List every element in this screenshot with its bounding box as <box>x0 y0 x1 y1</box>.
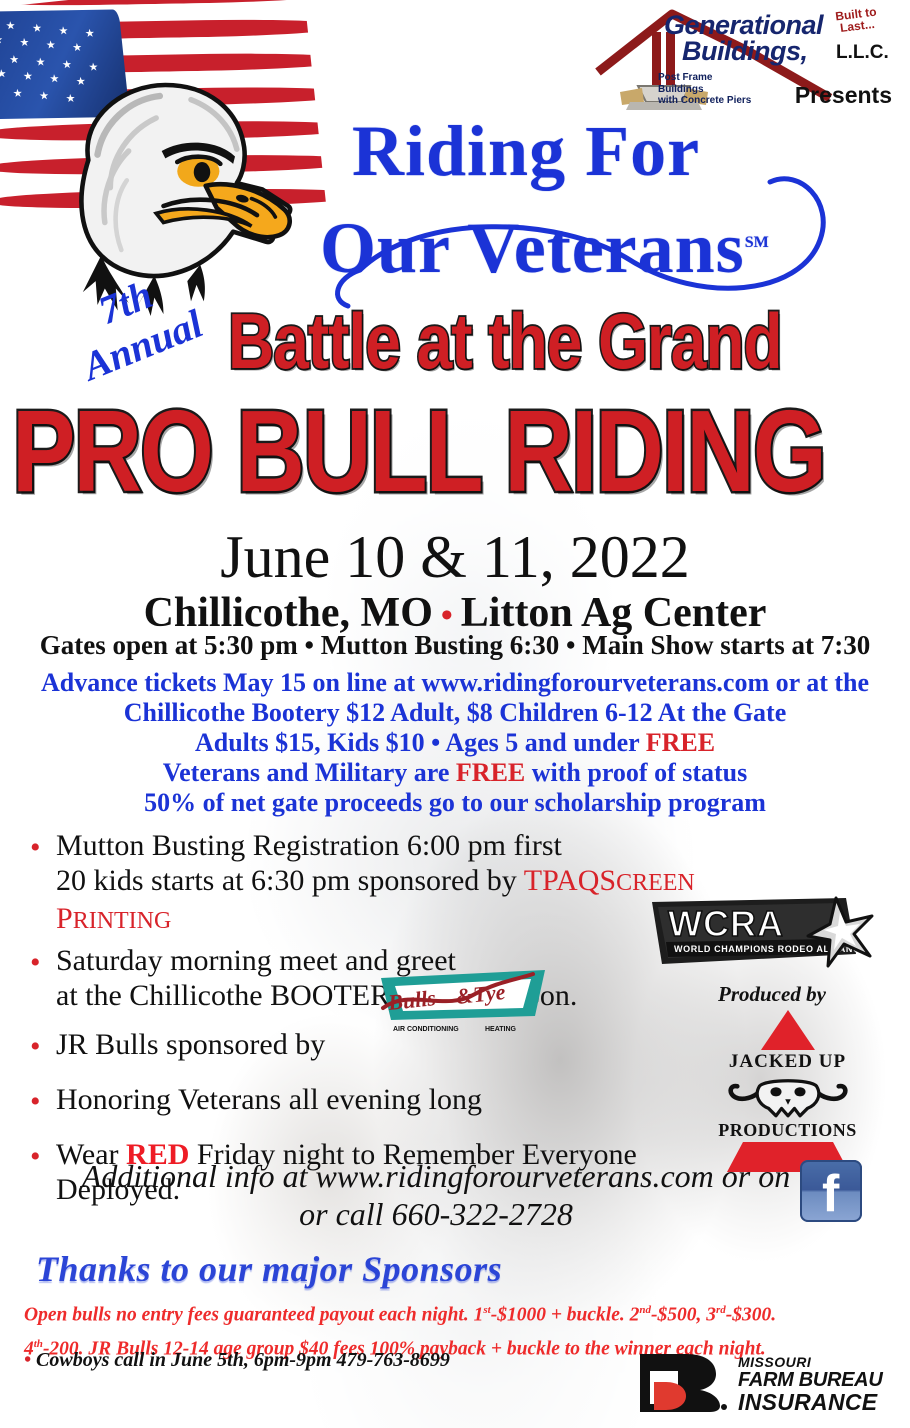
missouri-farm-bureau-insurance-logo: MISSOURI FARM BUREAU INSURANCE <box>636 1352 898 1414</box>
sponsor-subtitle: Post Frame Buildings with Concrete Piers <box>658 72 751 107</box>
bullet-dot: • <box>24 1349 31 1371</box>
bulls-eye-hvac-logo: Bulls &Tye AIR CONDITIONING HEATING <box>375 968 550 1036</box>
ticket-line-3: Adults $15, Kids $10 • Ages 5 and under … <box>0 728 910 758</box>
bullet-dot: • <box>30 830 41 865</box>
presents-label: Presents <box>795 82 892 109</box>
cowboys-callin-note: • Cowboys call in June 5th, 6pm-9pm 479-… <box>24 1349 450 1372</box>
title-line-1: Riding For <box>352 110 700 193</box>
bullet-honoring-veterans: • Honoring Veterans all evening long <box>20 1082 720 1117</box>
bullet-dot: • <box>30 1084 41 1119</box>
svg-text:AIR CONDITIONING: AIR CONDITIONING <box>393 1026 459 1033</box>
event-poster: ★★ ★★ ★ ★★ ★★ ★★ ★★ ★ ★★ ★★ ★★ ★★ <box>0 0 910 1428</box>
wcra-logo: WCRA WORLD CHAMPIONS RODEO ALLIANCE <box>650 896 880 968</box>
bull-skull-icon <box>728 1073 848 1118</box>
sponsor-llc: L.L.C. <box>836 42 889 64</box>
separator-dot: • <box>433 597 461 634</box>
svg-text:WCRA: WCRA <box>668 903 784 944</box>
jacked-up-productions-logo: JACKED UP PRODUCTIONS <box>700 1010 875 1150</box>
jacked-up-triangle <box>761 1010 815 1050</box>
event-date: June 10 & 11, 2022 <box>0 523 910 592</box>
facebook-glyph: f <box>822 1166 839 1222</box>
farm-bureau-line1: MISSOURI <box>738 1354 811 1370</box>
farm-bureau-line3: INSURANCE <box>738 1389 877 1416</box>
service-mark: SM <box>745 234 769 251</box>
ticket-line-2: Chillicothe Bootery $12 Adult, $8 Childr… <box>0 698 910 728</box>
discipline-headline: PRO BULL RIDING <box>12 386 825 519</box>
sponsors-heading: Thanks to our major Sponsors <box>36 1248 502 1290</box>
jacked-up-line1: JACKED UP <box>700 1051 875 1073</box>
built-to-last-tagline: Built to Last... <box>835 6 879 35</box>
payout-line-1: Open bulls no entry fees guaranteed payo… <box>24 1296 894 1330</box>
facebook-icon[interactable]: f <box>800 1160 862 1222</box>
event-name-headline: Battle at the Grand <box>228 296 782 386</box>
bullet-mutton-busting: • Mutton Busting Registration 6:00 pm fi… <box>20 828 720 939</box>
event-schedule: Gates open at 5:30 pm • Mutton Busting 6… <box>0 630 910 661</box>
svg-text:HEATING: HEATING <box>485 1026 517 1033</box>
svg-text:Bulls: Bulls <box>386 985 437 1015</box>
title-line-2: Our VeteransSM <box>320 207 769 290</box>
jacked-up-line2: PRODUCTIONS <box>700 1120 875 1141</box>
svg-text:&Tye: &Tye <box>455 979 507 1009</box>
bullet-meet-and-greet: • Saturday morning meet and greetat the … <box>20 943 720 1013</box>
sponsor-name-line2: Buildings, <box>682 36 808 67</box>
details-bullet-list: • Mutton Busting Registration 6:00 pm fi… <box>20 828 720 1211</box>
bullet-jr-bulls: • JR Bulls sponsored by <box>20 1027 720 1062</box>
bullet-dot: • <box>30 945 41 980</box>
bullet-dot: • <box>30 1029 41 1064</box>
ticket-line-5: 50% of net gate proceeds go to our schol… <box>0 788 910 818</box>
ticket-info-block: Advance tickets May 15 on line at www.ri… <box>0 668 910 818</box>
produced-by-label: Produced by <box>718 982 826 1007</box>
contact-line-2: or call 660-322-2728 <box>0 1195 872 1233</box>
ticket-line-4: Veterans and Military are FREE with proo… <box>0 758 910 788</box>
ticket-line-1: Advance tickets May 15 on line at www.ri… <box>0 668 910 698</box>
